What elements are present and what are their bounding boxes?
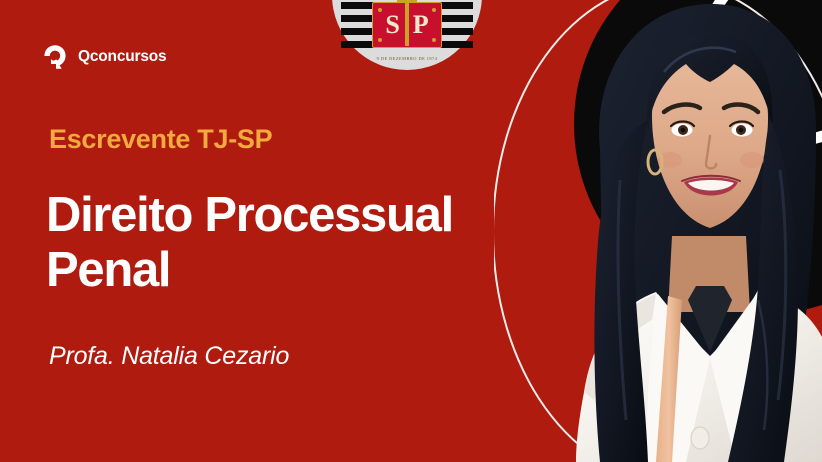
seal-dot-br: [432, 38, 436, 42]
qconcursos-q-icon: [40, 42, 70, 72]
seal-dot-tl: [378, 8, 382, 12]
seal-sword-icon: [405, 0, 409, 46]
brand-logo-text: Qconcursos: [78, 48, 166, 66]
seal-dot-tr: [432, 8, 436, 12]
exam-eyebrow: Escrevente TJ-SP: [49, 124, 272, 155]
tjsp-seal-inner: TRIBUNAL DE JUSTIÇA SP 9 DE DEZEMBRO DE …: [341, 0, 473, 56]
instructor-portrait: [560, 0, 822, 462]
brand-logo[interactable]: Qconcursos: [40, 42, 166, 72]
presenter-name: Profa. Natalia Cezario: [49, 342, 289, 371]
seal-text-bottom: 9 DE DEZEMBRO DE 1874: [341, 56, 473, 61]
course-title-slide: TRIBUNAL DE JUSTIÇA SP 9 DE DEZEMBRO DE …: [0, 0, 822, 462]
slide-headline: Direito Processual Penal: [46, 188, 516, 298]
seal-dot-bl: [378, 38, 382, 42]
tjsp-seal: TRIBUNAL DE JUSTIÇA SP 9 DE DEZEMBRO DE …: [332, 0, 482, 70]
